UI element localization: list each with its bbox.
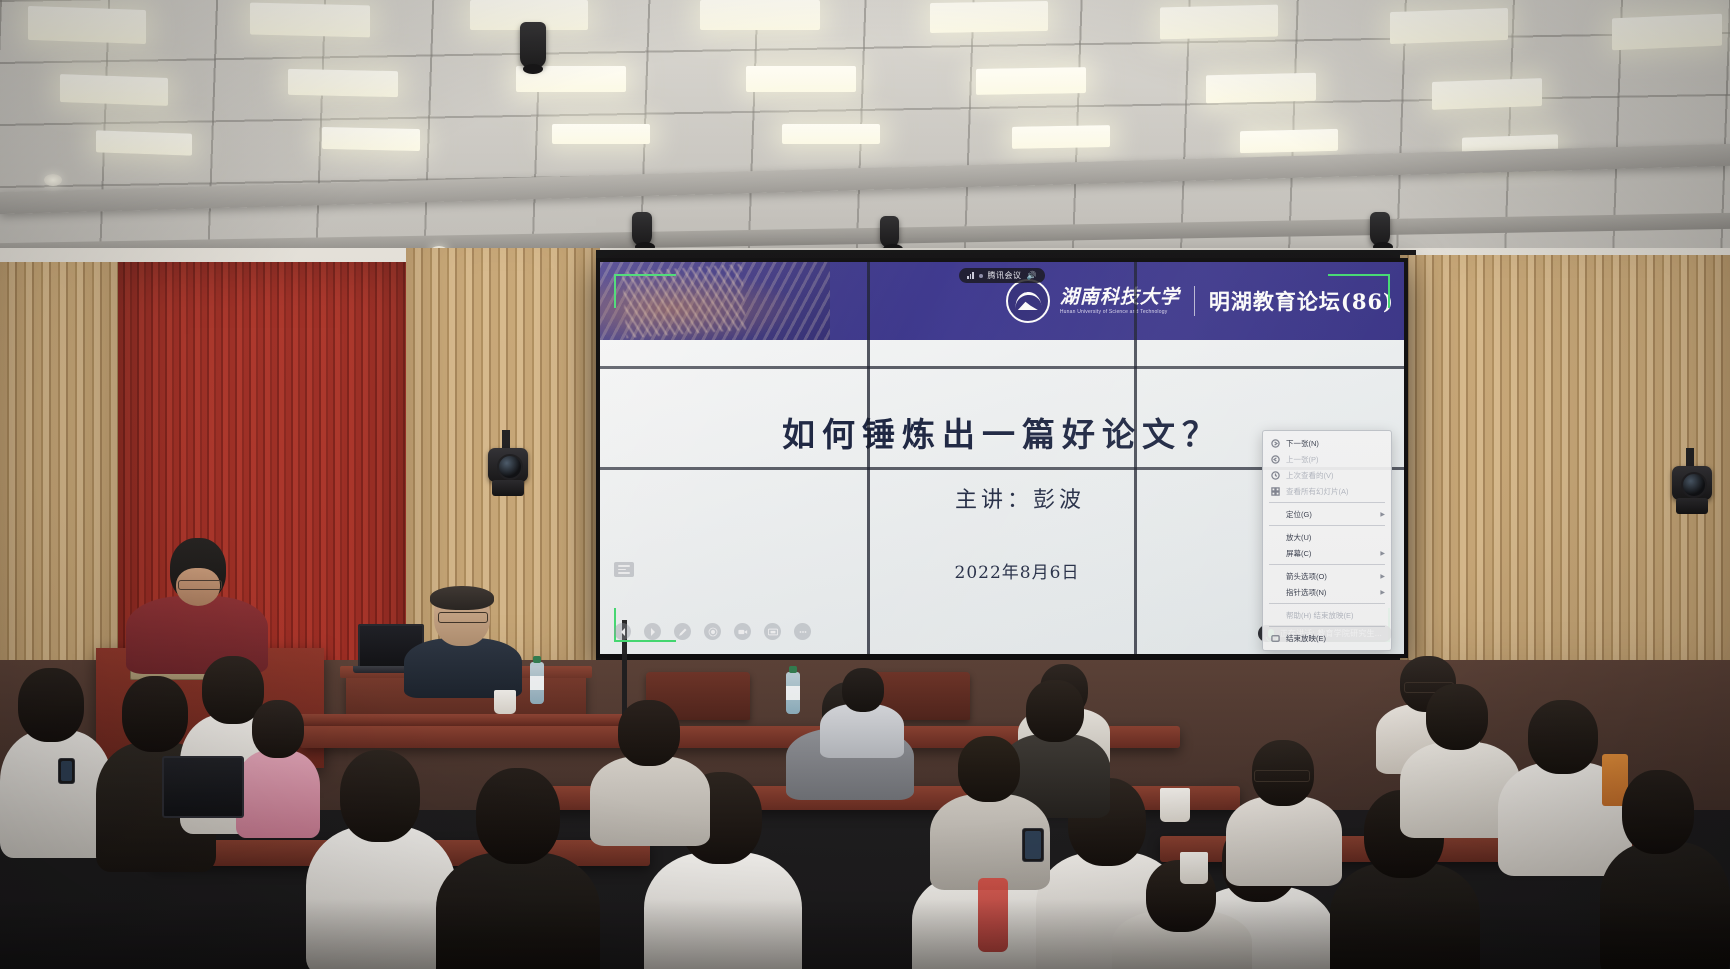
blank-icon bbox=[1271, 611, 1280, 620]
alignment-guide bbox=[1388, 274, 1390, 308]
pen-icon[interactable] bbox=[674, 623, 691, 640]
presider-at-table bbox=[404, 586, 522, 682]
context-menu-item-label: 帮助(H) 结束放映(E) bbox=[1286, 610, 1354, 621]
grid-icon bbox=[1271, 487, 1280, 496]
blank-icon bbox=[1271, 572, 1280, 581]
ceiling-light bbox=[250, 3, 370, 38]
audience-head bbox=[122, 676, 188, 752]
university-name-cn: 湖南科技大学 bbox=[1060, 288, 1180, 307]
blank-icon bbox=[1271, 510, 1280, 519]
context-menu-separator bbox=[1269, 626, 1385, 627]
speaker-icon: 🔊 bbox=[1027, 271, 1037, 280]
red-drink-bottle[interactable] bbox=[978, 878, 1008, 952]
context-menu-item[interactable]: 指针选项(N) ▶ bbox=[1263, 584, 1391, 600]
ceiling-light bbox=[1012, 125, 1110, 149]
ceiling-light bbox=[1206, 73, 1316, 104]
audience-head bbox=[1622, 770, 1694, 854]
alignment-guide bbox=[614, 274, 676, 276]
audience-torso bbox=[436, 852, 600, 969]
audience-head bbox=[252, 700, 304, 758]
slideshow-toolbar[interactable] bbox=[614, 623, 811, 640]
ceiling-light bbox=[288, 69, 398, 97]
tablet-device[interactable] bbox=[162, 756, 244, 818]
slide-speaker-line: 主讲：彭波 bbox=[955, 482, 1085, 514]
slideshow-context-menu[interactable]: 下一张(N) 上一张(P) 上次查看的(V) 查看所有幻灯片(A) bbox=[1262, 430, 1392, 651]
chevron-right-icon: ▶ bbox=[1380, 511, 1385, 518]
ceiling-spotlight bbox=[1370, 212, 1390, 246]
alignment-guide bbox=[614, 640, 676, 642]
audience-torso bbox=[306, 826, 456, 969]
ceiling-light bbox=[930, 1, 1048, 33]
university-crest-icon bbox=[1006, 279, 1050, 323]
chevron-right-icon: ▶ bbox=[1380, 589, 1385, 596]
camera-lens-icon bbox=[497, 454, 523, 480]
audience-member bbox=[1600, 770, 1730, 969]
context-menu-separator bbox=[1269, 502, 1385, 503]
banner-divider bbox=[1194, 286, 1195, 316]
audience-head bbox=[18, 668, 84, 742]
presenter-glasses bbox=[178, 580, 222, 590]
presenter-at-podium bbox=[122, 536, 272, 666]
forum-title: 明湖教育论坛(86) bbox=[1209, 286, 1394, 316]
context-menu-item-label: 下一张(N) bbox=[1286, 438, 1319, 449]
context-menu-item[interactable]: 放大(U) bbox=[1263, 529, 1391, 545]
video-wall-screen[interactable]: 湖南科技大学 Hunan University of Science and T… bbox=[600, 262, 1404, 654]
history-icon bbox=[1271, 471, 1280, 480]
tencent-meeting-status-pill[interactable]: 腾讯会议 🔊 bbox=[959, 268, 1045, 283]
screen-share-icon[interactable] bbox=[764, 623, 781, 640]
ceiling-light bbox=[60, 74, 168, 106]
presider-glasses bbox=[438, 612, 488, 623]
ceiling-downlight bbox=[44, 174, 62, 186]
presider-torso bbox=[404, 638, 522, 698]
audience-head bbox=[1026, 680, 1084, 742]
ceiling-light bbox=[96, 130, 192, 155]
ceiling bbox=[0, 0, 1730, 272]
university-name-block: 湖南科技大学 Hunan University of Science and T… bbox=[1060, 288, 1180, 315]
audience-member bbox=[820, 668, 904, 748]
slide-list-icon[interactable] bbox=[614, 562, 634, 577]
slide-date-line: 2022年8月6日 bbox=[955, 558, 1080, 583]
camera-base bbox=[492, 480, 524, 496]
context-menu-separator bbox=[1269, 525, 1385, 526]
context-menu-item-label: 指针选项(N) bbox=[1286, 587, 1326, 598]
ceiling-light bbox=[746, 66, 856, 92]
ceiling-light bbox=[700, 0, 820, 30]
audience-torso bbox=[590, 756, 710, 846]
university-name-en: Hunan University of Science and Technolo… bbox=[1060, 310, 1180, 315]
paper-cup[interactable] bbox=[1160, 788, 1190, 822]
audience-member bbox=[1226, 740, 1342, 870]
ellipsis-icon[interactable] bbox=[794, 623, 811, 640]
paper-cup[interactable] bbox=[1180, 852, 1208, 884]
context-menu-item-label: 屏幕(C) bbox=[1286, 548, 1311, 559]
ceiling-light bbox=[782, 124, 880, 144]
context-menu-item[interactable]: 上一张(P) bbox=[1263, 451, 1391, 467]
context-menu-item[interactable]: 箭头选项(O) ▶ bbox=[1263, 568, 1391, 584]
lecture-hall-photo: 湖南科技大学 Hunan University of Science and T… bbox=[0, 0, 1730, 969]
ceiling-spotlight bbox=[520, 22, 546, 68]
signal-bars-icon bbox=[967, 272, 974, 279]
ceiling-spotlight bbox=[880, 216, 899, 248]
presider-hair bbox=[430, 586, 494, 610]
context-menu-item[interactable]: 结束放映(E) bbox=[1263, 630, 1391, 646]
audience-head bbox=[958, 736, 1020, 802]
context-menu-item-label: 定位(G) bbox=[1286, 509, 1312, 520]
alignment-guide bbox=[614, 274, 616, 308]
ceiling-light bbox=[28, 6, 146, 44]
laser-pointer-icon[interactable] bbox=[704, 623, 721, 640]
smartphone[interactable] bbox=[58, 758, 75, 784]
audience-torso bbox=[644, 852, 802, 969]
context-menu-item-label: 查看所有幻灯片(A) bbox=[1286, 486, 1349, 497]
ceiling-light bbox=[1240, 129, 1338, 153]
blank-icon bbox=[1271, 549, 1280, 558]
context-menu-item-label: 上次查看的(V) bbox=[1286, 470, 1334, 481]
ceiling-spotlight bbox=[632, 212, 652, 246]
context-menu-item-label: 箭头选项(O) bbox=[1286, 571, 1327, 582]
camera-icon[interactable] bbox=[734, 623, 751, 640]
front-bench-edge bbox=[300, 714, 630, 726]
ceiling-light bbox=[322, 127, 420, 151]
alignment-guide bbox=[1328, 274, 1390, 276]
next-circle-icon bbox=[1271, 439, 1280, 448]
bottle-label bbox=[530, 676, 544, 690]
context-menu-item[interactable]: 屏幕(C) ▶ bbox=[1263, 545, 1391, 561]
audience-head bbox=[1426, 684, 1488, 750]
prev-circle-icon bbox=[1271, 455, 1280, 464]
context-menu-separator bbox=[1269, 564, 1385, 565]
ceiling-light bbox=[976, 67, 1086, 95]
context-menu-item[interactable]: 下一张(N) bbox=[1263, 435, 1391, 451]
next-play-icon[interactable] bbox=[644, 623, 661, 640]
bottle-cap bbox=[789, 666, 797, 673]
audience-glasses bbox=[1254, 770, 1310, 782]
context-menu-item[interactable]: 查看所有幻灯片(A) bbox=[1263, 483, 1391, 499]
smartphone[interactable] bbox=[1022, 828, 1044, 862]
context-menu-item-label: 上一张(P) bbox=[1286, 454, 1319, 465]
audience-torso bbox=[1600, 842, 1730, 969]
status-dot-icon bbox=[979, 274, 983, 278]
audience-head bbox=[1528, 700, 1598, 774]
camera-lens-icon bbox=[1681, 472, 1707, 498]
audience-member bbox=[590, 700, 710, 830]
audience-head bbox=[476, 768, 560, 864]
meeting-app-name: 腾讯会议 bbox=[988, 270, 1022, 281]
chevron-right-icon: ▶ bbox=[1380, 573, 1385, 580]
audience-head bbox=[340, 750, 420, 842]
ceiling-light bbox=[1432, 78, 1542, 110]
context-menu-item-label: 放大(U) bbox=[1286, 532, 1311, 543]
ceiling-light bbox=[1160, 5, 1278, 40]
water-bottle[interactable] bbox=[530, 662, 544, 704]
context-menu-item[interactable]: 帮助(H) 结束放映(E) bbox=[1263, 607, 1391, 623]
audience-head bbox=[842, 668, 884, 712]
audience-member bbox=[436, 768, 600, 969]
context-menu-item-label: 结束放映(E) bbox=[1286, 633, 1326, 644]
context-menu-item[interactable]: 上次查看的(V) bbox=[1263, 467, 1391, 483]
bottle-cap bbox=[533, 656, 541, 663]
context-menu-separator bbox=[1269, 603, 1385, 604]
audience-torso bbox=[820, 704, 904, 758]
ceiling-light bbox=[552, 124, 650, 144]
previous-arrow-icon[interactable] bbox=[614, 623, 631, 640]
end-show-icon bbox=[1271, 634, 1280, 643]
slide-main-title: 如何锤炼出一篇好论文？ bbox=[782, 408, 1222, 456]
chevron-right-icon: ▶ bbox=[1380, 550, 1385, 557]
context-menu-item[interactable]: 定位(G) ▶ bbox=[1263, 506, 1391, 522]
audience-torso bbox=[1330, 862, 1480, 969]
audience-member bbox=[306, 750, 456, 969]
audience-head bbox=[618, 700, 680, 766]
ceiling-light bbox=[1390, 8, 1508, 44]
paper-cup[interactable] bbox=[494, 690, 516, 714]
blank-icon bbox=[1271, 533, 1280, 542]
ceiling-light bbox=[1612, 14, 1722, 51]
blank-icon bbox=[1271, 588, 1280, 597]
camera-base bbox=[1676, 498, 1708, 514]
